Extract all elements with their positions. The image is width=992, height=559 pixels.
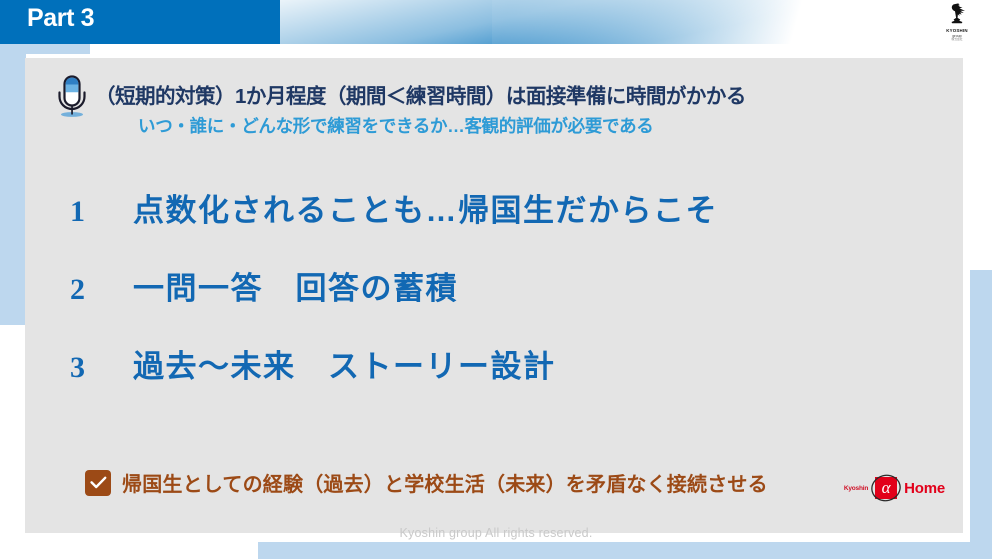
- numbered-list: 1 点数化されることも…帰国生だからこそ 2 一問一答 回答の蓄積 3 過去〜未…: [25, 185, 963, 419]
- decorative-band-header-under: [0, 44, 90, 54]
- kyoshin-group-logo: KYOSHIN group 株式会社: [934, 2, 980, 42]
- list-item-label: 過去〜未来 ストーリー設計: [133, 341, 556, 386]
- heading-line-1: （短期的対策）1か月程度（期間＜練習時間）は面接準備に時間がかかる: [95, 79, 746, 109]
- header-gradient-highlight: [280, 0, 992, 44]
- list-item-label: 点数化されることも…帰国生だからこそ: [133, 185, 718, 230]
- heading-line-2: いつ・誰に・どんな形で練習をできるか…客観的評価が必要である: [138, 113, 653, 138]
- checkbox-checked-icon: [85, 470, 111, 496]
- list-item-number: 1: [25, 195, 85, 229]
- list-item: 3 過去〜未来 ストーリー設計: [25, 341, 963, 419]
- alpha-home-logo: Kyoshin α Home: [844, 473, 945, 503]
- kyoshin-bird-logo-icon: [944, 2, 970, 28]
- decorative-band-bottom: [258, 542, 992, 559]
- conclusion-text: 帰国生としての経験（過去）と学校生活（未来）を矛盾なく接続させる: [122, 468, 768, 497]
- brand-sub2: 株式会社: [951, 38, 962, 41]
- list-item: 1 点数化されることも…帰国生だからこそ: [25, 185, 963, 263]
- decorative-band-left: [0, 44, 26, 325]
- list-item: 2 一問一答 回答の蓄積: [25, 263, 963, 341]
- alpha-logo-letter: α: [870, 474, 902, 502]
- slide-header: [0, 0, 992, 44]
- copyright-text: Kyoshin group All rights reserved.: [0, 526, 992, 540]
- list-item-label: 一問一答 回答の蓄積: [133, 263, 458, 308]
- list-item-number: 2: [25, 273, 85, 307]
- list-item-number: 3: [25, 351, 85, 385]
- alpha-logo-glyph: α: [870, 474, 902, 502]
- conclusion-row: 帰国生としての経験（過去）と学校生活（未来）を矛盾なく接続させる: [85, 468, 768, 497]
- page-title: Part 3: [27, 4, 94, 33]
- content-panel: （短期的対策）1か月程度（期間＜練習時間）は面接準備に時間がかかる いつ・誰に・…: [25, 58, 963, 533]
- alpha-logo-home-label: Home: [904, 480, 945, 497]
- alpha-logo-kyoshin-label: Kyoshin: [844, 485, 868, 492]
- decorative-band-right: [970, 270, 992, 559]
- microphone-icon: [48, 72, 96, 120]
